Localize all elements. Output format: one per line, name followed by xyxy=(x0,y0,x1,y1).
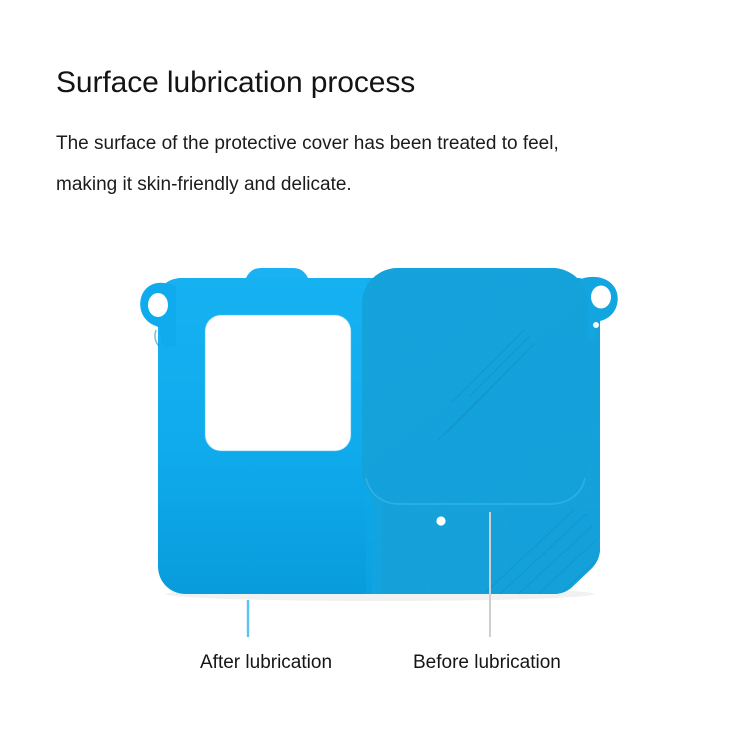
lanyard-loop-left xyxy=(140,283,176,347)
lens-cap-panel xyxy=(360,265,592,510)
microphone-hole xyxy=(436,516,445,525)
case-shadow xyxy=(166,587,594,601)
lanyard-hole-right xyxy=(591,286,611,309)
description-text: The surface of the protective cover has … xyxy=(56,123,696,205)
lanyard-hole-left xyxy=(148,293,168,317)
lanyard-loop-right xyxy=(578,277,618,342)
textured-surface-region xyxy=(372,250,622,610)
product-feature-slide: Surface lubrication process The surface … xyxy=(0,0,750,750)
callout-label-after: After lubrication xyxy=(200,652,332,674)
product-illustration xyxy=(0,0,750,750)
screen-cutout xyxy=(205,315,351,451)
smooth-surface-region xyxy=(140,250,620,610)
page-title: Surface lubrication process xyxy=(56,66,415,100)
description-line-1: The surface of the protective cover has … xyxy=(56,123,696,164)
screen-cutout-edge xyxy=(205,315,351,451)
texture-streaks-lower xyxy=(486,510,599,598)
loop-pin-dot-right xyxy=(593,322,599,328)
surface-transition-seam xyxy=(366,250,382,610)
lens-cap-bottom-rim xyxy=(366,478,585,504)
shutter-button-bump xyxy=(246,268,308,278)
description-line-2: making it skin-friendly and delicate. xyxy=(56,164,696,205)
texture-streaks-cap xyxy=(438,330,534,440)
case-body xyxy=(140,250,622,610)
callout-label-before: Before lubrication xyxy=(413,652,561,674)
